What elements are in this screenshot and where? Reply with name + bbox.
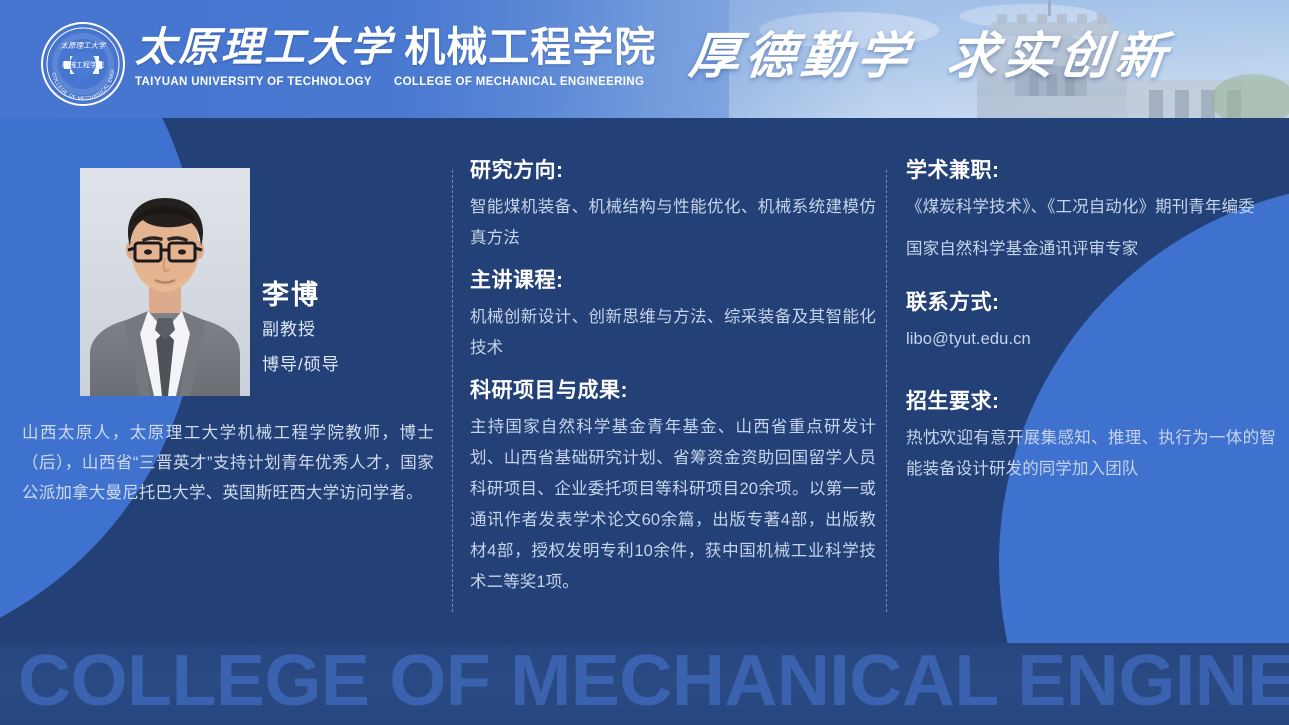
college-name-en: COLLEGE OF MECHANICAL ENGINEERING bbox=[394, 74, 644, 90]
portrait-illustration bbox=[80, 168, 250, 396]
admission-heading: 招生要求: bbox=[906, 387, 1276, 417]
poster-body: 李博 副教授 博导/硕导 山西太原人，太原理工大学机械工程学院教师，博士（后），… bbox=[0, 118, 1289, 643]
svg-text:太原理工大学: 太原理工大学 bbox=[61, 41, 107, 50]
courses-heading: 主讲课程: bbox=[470, 266, 876, 296]
page-footer: COLLEGE OF MECHANICAL ENGINEERING bbox=[0, 643, 1289, 725]
research-heading: 研究方向: bbox=[470, 156, 876, 186]
identity-block: 李博 副教授 博导/硕导 bbox=[262, 278, 437, 382]
brand-lockup: 太原理工大学 机械工程学院 TAIYUAN UNIVERSITY OF TECH… bbox=[135, 24, 656, 90]
faculty-name: 李博 bbox=[262, 278, 437, 312]
appointments-heading: 学术兼职: bbox=[906, 156, 1276, 186]
faculty-rank: 副教授 bbox=[262, 312, 437, 348]
faculty-profile-poster: 机械工程学院 太原理工大学 COLLEGE OF MECHANICAL ENGI… bbox=[0, 0, 1289, 725]
column-divider-right bbox=[886, 170, 887, 612]
footer-banner-text: COLLEGE OF MECHANICAL ENGINEERING bbox=[18, 643, 1289, 725]
right-column: 学术兼职: 《煤炭科学技术》、《工况自动化》期刊青年编委 国家自然科学基金通讯评… bbox=[906, 156, 1276, 497]
motto-part-1: 厚德勤学 bbox=[687, 28, 917, 84]
spacer-contact bbox=[906, 367, 1276, 387]
brand-english-line: TAIYUAN UNIVERSITY OF TECHNOLOGY COLLEGE… bbox=[135, 74, 656, 90]
faculty-portrait bbox=[80, 168, 250, 396]
university-motto: 厚德勤学求实创新 bbox=[686, 16, 1176, 88]
appointments-line-1: 《煤炭科学技术》、《工况自动化》期刊青年编委 bbox=[906, 192, 1276, 222]
university-emblem-icon: 机械工程学院 太原理工大学 COLLEGE OF MECHANICAL ENGI… bbox=[40, 21, 126, 107]
university-name-cn: 太原理工大学 bbox=[135, 24, 393, 70]
courses-body: 机械创新设计、创新思维与方法、综采装备及其智能化技术 bbox=[470, 302, 876, 364]
brand-chinese-line: 太原理工大学 机械工程学院 bbox=[135, 24, 656, 70]
research-body: 智能煤机装备、机械结构与性能优化、机械系统建模仿真方法 bbox=[470, 192, 876, 254]
middle-column: 研究方向: 智能煤机装备、机械结构与性能优化、机械系统建模仿真方法 主讲课程: … bbox=[470, 156, 876, 610]
projects-heading: 科研项目与成果: bbox=[470, 376, 876, 406]
faculty-supervisor-role: 博导/硕导 bbox=[262, 348, 437, 382]
spacer-appointments bbox=[906, 276, 1276, 288]
contact-heading: 联系方式: bbox=[906, 288, 1276, 318]
faculty-bio: 山西太原人，太原理工大学机械工程学院教师，博士（后），山西省“三晋英才”支持计划… bbox=[22, 418, 434, 508]
contact-email[interactable]: libo@tyut.edu.cn bbox=[906, 324, 1276, 355]
projects-body: 主持国家自然科学基金青年基金、山西省重点研发计划、山西省基础研究计划、省筹资金资… bbox=[470, 412, 876, 598]
university-logo: 机械工程学院 太原理工大学 COLLEGE OF MECHANICAL ENGI… bbox=[40, 21, 126, 107]
college-name-cn: 机械工程学院 bbox=[404, 24, 656, 70]
svg-text:机械工程学院: 机械工程学院 bbox=[62, 60, 104, 69]
admission-body: 热忱欢迎有意开展集感知、推理、执行为一体的智能装备设计研发的同学加入团队 bbox=[906, 423, 1276, 485]
university-name-en: TAIYUAN UNIVERSITY OF TECHNOLOGY bbox=[135, 74, 372, 90]
motto-part-2: 求实创新 bbox=[945, 28, 1175, 84]
appointments-line-2: 国家自然科学基金通讯评审专家 bbox=[906, 234, 1276, 264]
page-header: 机械工程学院 太原理工大学 COLLEGE OF MECHANICAL ENGI… bbox=[0, 0, 1289, 118]
column-divider-left bbox=[452, 170, 453, 612]
